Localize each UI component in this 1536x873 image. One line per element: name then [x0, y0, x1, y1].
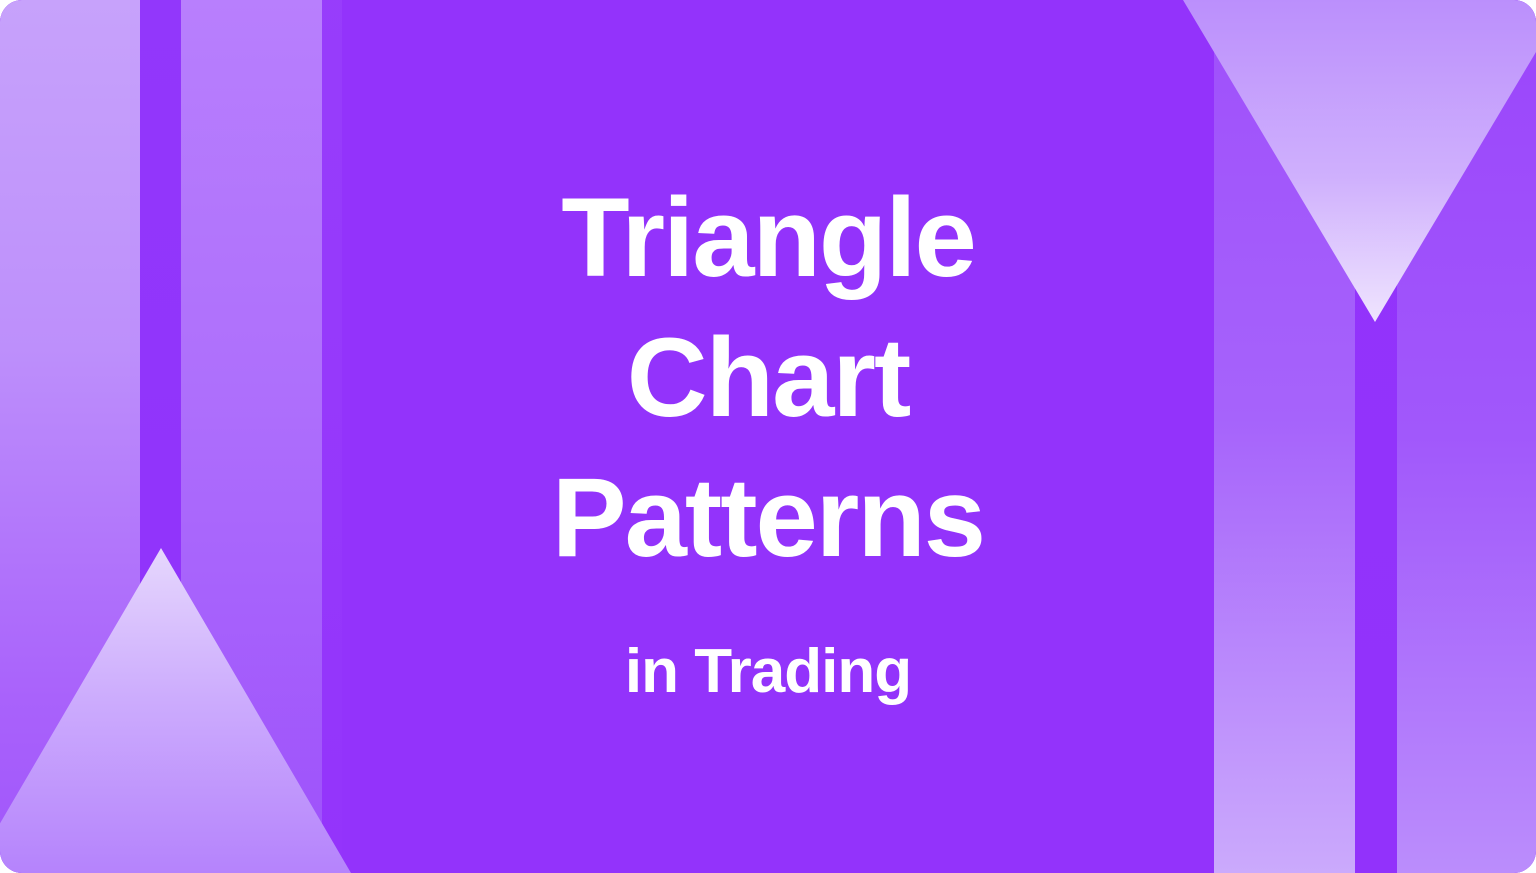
- page-title: Triangle Chart Patterns: [0, 168, 1536, 588]
- title-line-3: Patterns: [0, 448, 1536, 588]
- poster-content: Triangle Chart Patterns in Trading: [0, 0, 1536, 873]
- title-line-1: Triangle: [0, 168, 1536, 308]
- title-line-2: Chart: [0, 308, 1536, 448]
- page-subtitle: in Trading: [0, 634, 1536, 710]
- poster-canvas: Triangle Chart Patterns in Trading: [0, 0, 1536, 873]
